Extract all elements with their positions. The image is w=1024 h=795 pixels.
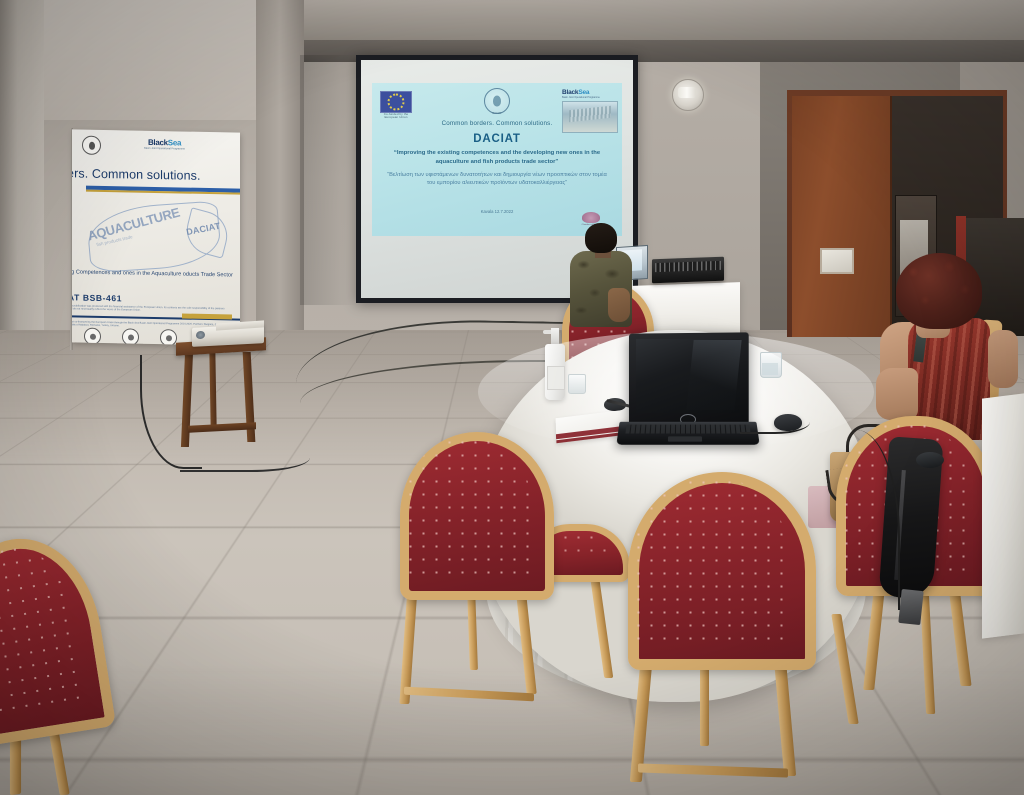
- black-sea-subtitle: Basin Joint Operational Programme: [562, 96, 616, 99]
- conference-room-photo: Co-funded by the European Union DACIAT B…: [0, 0, 1024, 795]
- sanitizer-label: [547, 366, 565, 390]
- banner-fine-print-1: This publication was produced with the f…: [72, 304, 228, 314]
- adjacent-table: [982, 393, 1024, 638]
- laptop-touchpad[interactable]: [668, 436, 702, 441]
- presenter-head: [585, 223, 617, 253]
- partner-logo-1: [84, 328, 101, 345]
- wooden-door[interactable]: [792, 96, 892, 337]
- eu-logo-caption: Co-funded by the European Union: [377, 113, 415, 120]
- laptop-screen-glare: [686, 340, 741, 410]
- banquet-chair[interactable]: [628, 472, 794, 648]
- chair-fabric-pattern: [404, 436, 532, 578]
- presentation-slide: Co-funded by the European Union DACIAT B…: [372, 83, 622, 236]
- banner-black-sea-logo: BlackSea Basin Joint Operational Program…: [144, 138, 185, 151]
- banner-fish-artwork: AQUACULTURE DACIAT fish products trade: [82, 196, 234, 275]
- attendee-arm: [876, 368, 918, 420]
- black-sea-word-black: Black: [562, 89, 578, 96]
- chamber-mark-icon: [582, 212, 600, 223]
- floor-cable: [180, 440, 310, 472]
- slide-tagline: Common borders. Common solutions.: [372, 120, 622, 127]
- laptop-keyboard[interactable]: [625, 425, 750, 434]
- black-bag-tag: [898, 589, 923, 625]
- banner-bs-sea: Sea: [168, 138, 181, 147]
- middle-column: [256, 0, 304, 330]
- glass-water-level: [762, 363, 778, 375]
- black-sea-wordmark: BlackSea: [562, 89, 616, 96]
- black-sea-photo: [562, 101, 618, 133]
- black-sea-word-sea: Sea: [578, 89, 589, 96]
- presenter-arm: [608, 288, 630, 322]
- partner-logo-3: [160, 329, 177, 346]
- eu-flag-icon: [380, 91, 412, 113]
- banner-bs-subtitle: Basin Joint Operational Programme: [144, 147, 185, 151]
- computer-mouse[interactable]: [916, 452, 944, 468]
- black-sea-logo: BlackSea Basin Joint Operational Program…: [562, 89, 616, 137]
- daciat-logo-caption: DACIAT: [492, 112, 501, 115]
- chair-fabric-pattern: [632, 476, 790, 644]
- attendee-hair-texture: [896, 253, 982, 329]
- rollup-banner: BlackSea Basin Joint Operational Program…: [72, 129, 240, 345]
- eu-stars-icon: [388, 94, 405, 111]
- partner-logo-2: [122, 328, 139, 345]
- banner-headline: ders. Common solutions.: [72, 166, 240, 184]
- computer-mouse[interactable]: [774, 414, 802, 431]
- daciat-logo-icon: [484, 88, 510, 114]
- banner-bs-black: Black: [148, 138, 168, 147]
- attendee-arm-right: [988, 330, 1018, 388]
- wall-light-core: [678, 87, 696, 98]
- banquet-chair[interactable]: [400, 432, 536, 582]
- banner-gold-box: [182, 313, 232, 319]
- slide-subtitle-english: “Improving the existing competences and …: [386, 149, 608, 166]
- slide-title: DACIAT: [372, 133, 622, 145]
- banner-daciat-logo-icon: [82, 136, 101, 155]
- slide-subtitle-greek: “Βελτίωση των υφιστάμενων δυνατοτήτων κα…: [384, 171, 610, 188]
- water-glass[interactable]: [568, 374, 586, 394]
- screen-shadow: [300, 55, 358, 305]
- door-window-pane: [820, 248, 854, 274]
- banner-project-code: AT BSB-461: [72, 292, 122, 303]
